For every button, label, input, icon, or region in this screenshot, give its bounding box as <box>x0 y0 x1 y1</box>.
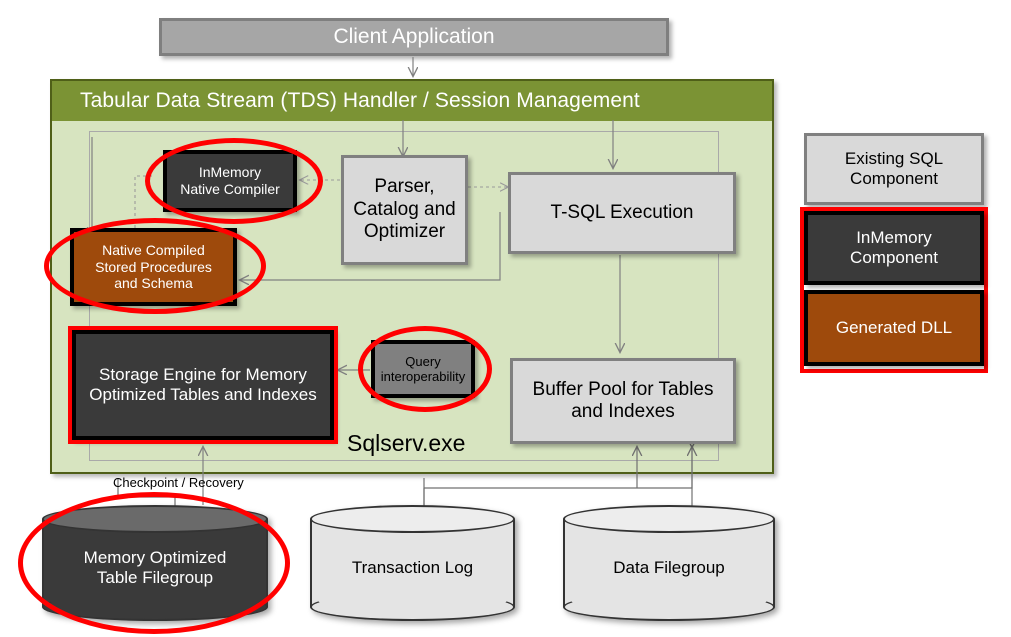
cylinder-top <box>563 505 775 533</box>
legend-inmemory-line1: InMemory <box>846 228 942 248</box>
legend-existing-line2: Component <box>841 169 947 189</box>
legend-existing-line1: Existing SQL <box>841 149 947 169</box>
parser-line3: Optimizer <box>349 221 459 243</box>
legend-existing-sql-component: Existing SQL Component <box>804 133 984 205</box>
data-filegroup-label: Data Filegroup <box>613 558 725 578</box>
parser-line2: Catalog and <box>349 199 459 221</box>
buffer-pool-box: Buffer Pool for Tables and Indexes <box>510 358 736 444</box>
storage-engine-box: Storage Engine for Memory Optimized Tabl… <box>72 330 334 440</box>
highlight-ellipse-native-compiled-stored-procedures <box>44 218 266 314</box>
storage-engine-line2: Optimized Tables and Indexes <box>85 385 320 405</box>
legend-panel: Existing SQL Component InMemory Componen… <box>800 133 988 373</box>
diagram-canvas: Client Application Tabular Data Stream (… <box>0 0 1011 637</box>
tsql-execution-box: T-SQL Execution <box>508 172 736 254</box>
highlight-ellipse-memory-optimized-filegroup <box>18 492 290 634</box>
data-filegroup-cylinder: Data Filegroup <box>563 505 775 621</box>
transaction-log-label: Transaction Log <box>352 558 473 578</box>
cylinder-top <box>310 505 515 533</box>
tsql-execution-label: T-SQL Execution <box>547 202 698 224</box>
buffer-pool-line2: and Indexes <box>529 401 718 423</box>
checkpoint-recovery-label: Checkpoint / Recovery <box>113 475 244 490</box>
parser-catalog-optimizer-box: Parser, Catalog and Optimizer <box>341 155 468 265</box>
legend-generated-dll: Generated DLL <box>804 290 984 366</box>
legend-generated-dll-label: Generated DLL <box>832 318 956 338</box>
buffer-pool-line1: Buffer Pool for Tables <box>529 379 718 401</box>
storage-engine-line1: Storage Engine for Memory <box>85 365 320 385</box>
highlight-ellipse-query-interoperability <box>358 326 492 412</box>
parser-line1: Parser, <box>349 176 459 198</box>
legend-inmemory-line2: Component <box>846 248 942 268</box>
highlight-ellipse-inmemory-native-compiler <box>145 138 323 224</box>
legend-inmemory-component: InMemory Component <box>804 211 984 285</box>
transaction-log-cylinder: Transaction Log <box>310 505 515 621</box>
